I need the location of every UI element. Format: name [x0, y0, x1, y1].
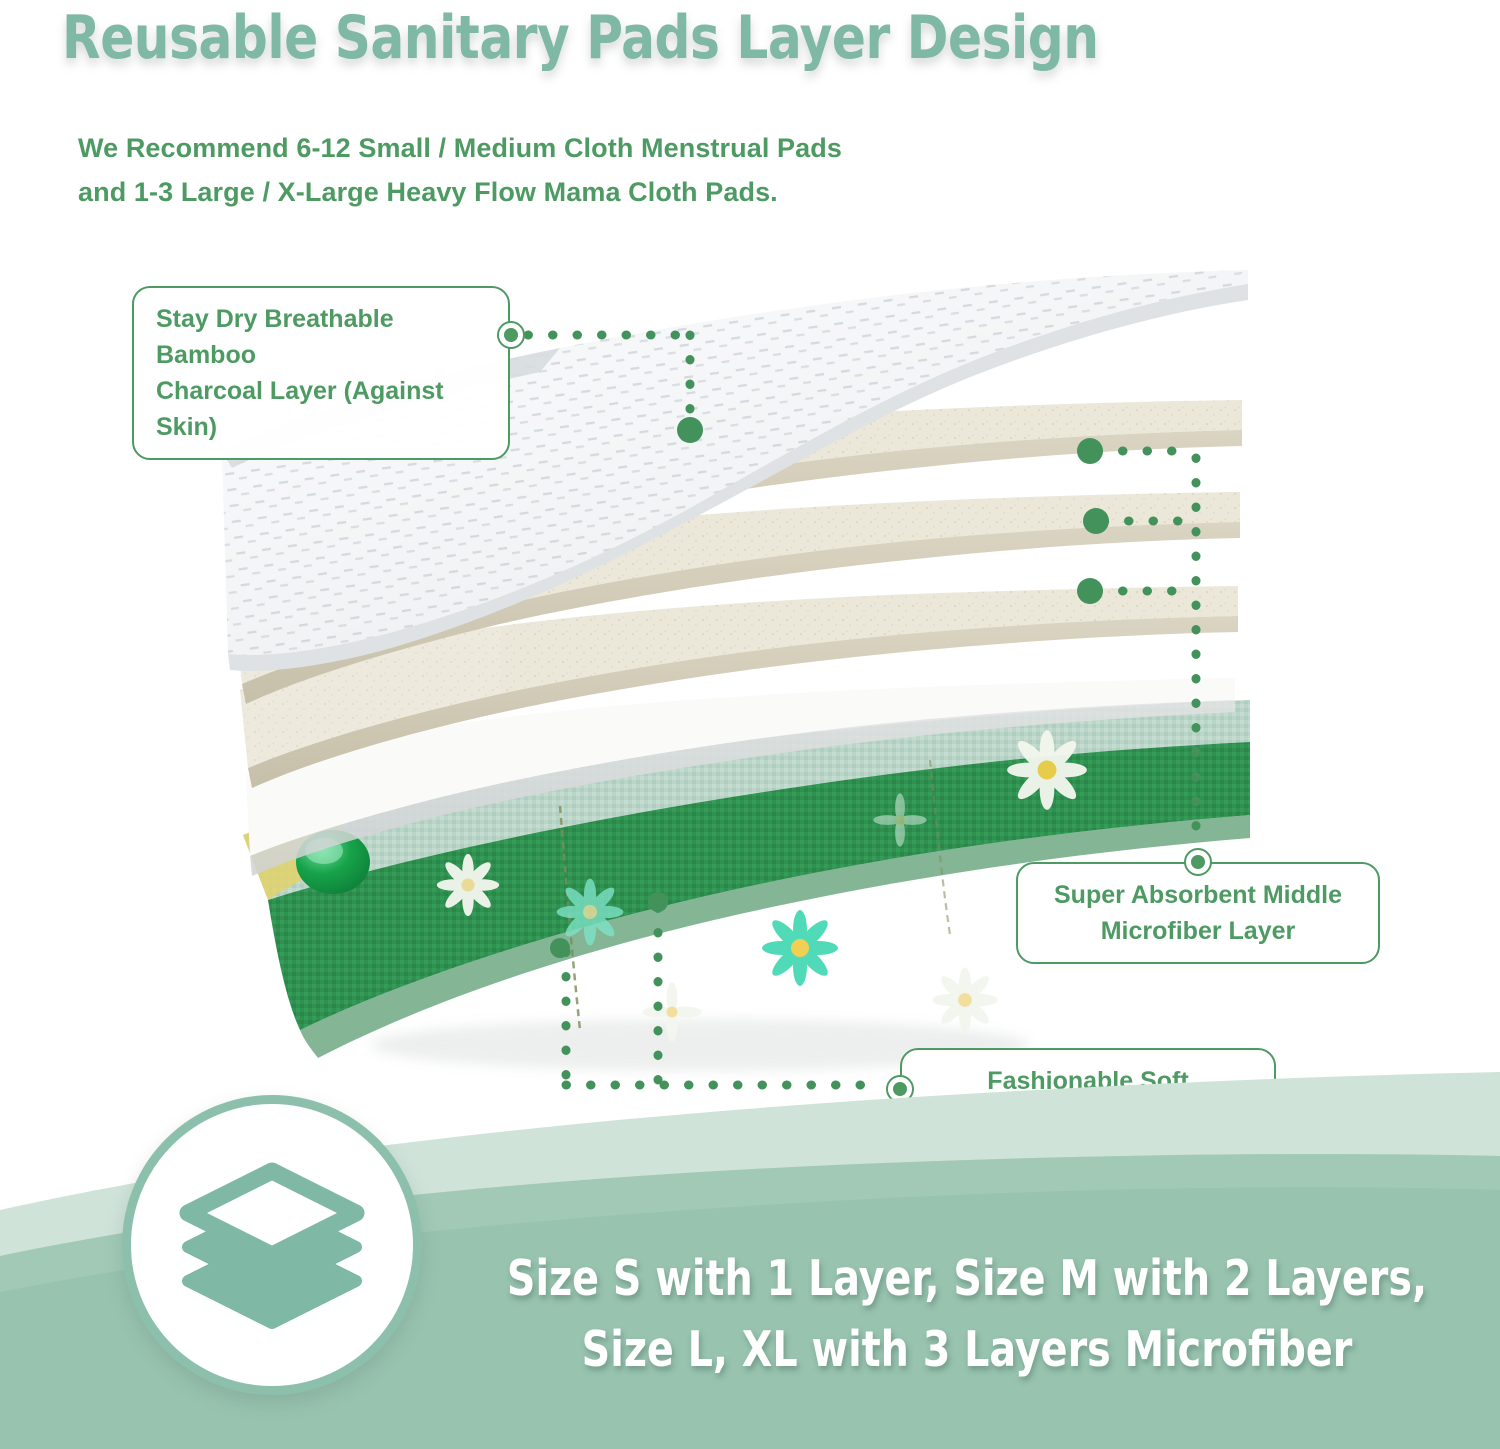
page-title: Reusable Sanitary Pads Layer Design	[62, 2, 1098, 74]
page-subtitle: We Recommend 6-12 Small / Medium Cloth M…	[78, 126, 842, 214]
layers-badge	[122, 1095, 422, 1395]
endpoint-microfiber-2	[1083, 508, 1109, 534]
footer-banner-text: Size S with 1 Layer, Size M with 2 Layer…	[504, 1243, 1431, 1385]
callout-microfiber-layer: Super Absorbent Middle Microfiber Layer	[1016, 862, 1380, 964]
endpoint-top-layer	[677, 417, 703, 443]
endpoint-outer-a	[648, 892, 668, 912]
endpoint-microfiber-1	[1077, 438, 1103, 464]
infographic-canvas: Reusable Sanitary Pads Layer Design We R…	[0, 0, 1500, 1449]
callout-bamboo-charcoal-layer: Stay Dry Breathable Bamboo Charcoal Laye…	[132, 286, 510, 460]
layers-stack-icon	[172, 1155, 372, 1335]
endpoint-outer-b	[550, 938, 570, 958]
callout-node-middle	[1184, 848, 1212, 876]
callout-node-top	[497, 321, 525, 349]
endpoint-microfiber-3	[1077, 578, 1103, 604]
